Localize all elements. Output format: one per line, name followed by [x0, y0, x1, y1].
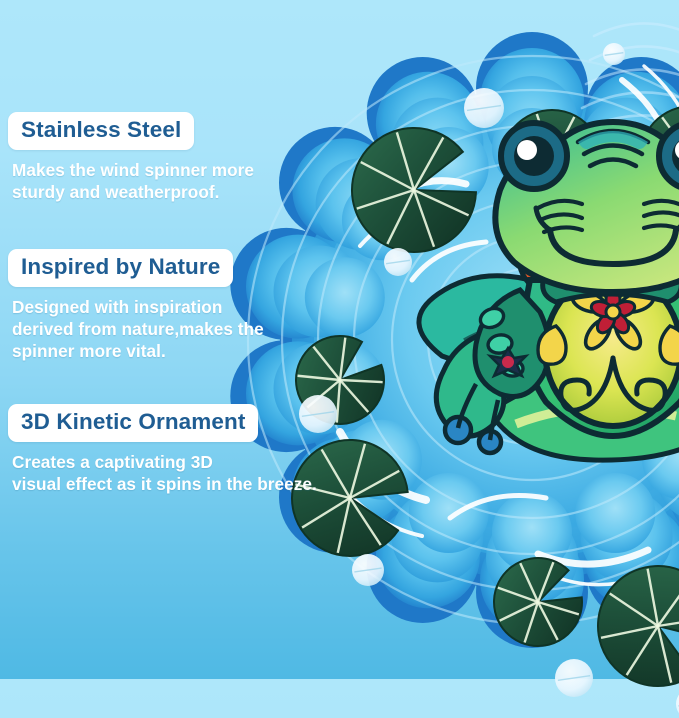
- feature-description-line: Makes the wind spinner more: [12, 159, 254, 181]
- lotus-bud: [517, 216, 562, 290]
- frog-frills: [475, 290, 679, 397]
- lily-pad: [479, 544, 594, 661]
- bubble: [464, 88, 504, 128]
- feature-description-line: visual effect as it spins in the breeze.: [12, 473, 317, 495]
- bubble: [555, 659, 593, 697]
- promo-image: Stainless Steel Makes the wind spinner m…: [0, 0, 679, 679]
- bubble: [603, 43, 625, 65]
- feature-title: Inspired by Nature: [21, 256, 220, 279]
- lily-pad: [633, 99, 679, 216]
- frog-eyes: [501, 123, 679, 189]
- bubble: [450, 418, 470, 438]
- lotus-stem: [532, 254, 537, 388]
- feature-list: Stainless Steel Makes the wind spinner m…: [0, 0, 380, 679]
- feature-title: Stainless Steel: [21, 119, 181, 142]
- feature-item-stainless-steel: Stainless Steel Makes the wind spinner m…: [8, 112, 254, 203]
- frog-figure: [419, 122, 679, 460]
- frog-collar: [543, 254, 679, 302]
- feature-description: Makes the wind spinner more sturdy and w…: [12, 159, 254, 204]
- feature-title-pill: Stainless Steel: [8, 112, 194, 150]
- bubble: [384, 248, 412, 276]
- frog-leaf-bottom: [490, 376, 679, 460]
- feature-item-inspired-by-nature: Inspired by Nature Designed with inspira…: [8, 249, 264, 363]
- frog-leaf-left: [419, 276, 560, 364]
- feature-description-line: spinner more vital.: [12, 340, 264, 362]
- lily-pad: [575, 543, 679, 708]
- feature-description-line: Designed with inspiration: [12, 296, 264, 318]
- frog-toes: [445, 417, 679, 453]
- feature-item-3d-kinetic-ornament: 3D Kinetic Ornament Creates a captivatin…: [8, 404, 317, 495]
- feature-description: Creates a captivating 3D visual effect a…: [12, 451, 317, 496]
- head-pad: [519, 163, 609, 214]
- feature-title: 3D Kinetic Ornament: [21, 411, 245, 434]
- feature-description: Designed with inspiration derived from n…: [12, 296, 264, 363]
- frog-head: [495, 122, 679, 292]
- feature-description-line: derived from nature,makes the: [12, 318, 264, 340]
- feature-description-line: Creates a captivating 3D: [12, 451, 317, 473]
- frog-belly: [545, 274, 679, 426]
- frog-mouth: [550, 230, 676, 264]
- frog-limbs: [436, 328, 679, 436]
- feature-description-line: sturdy and weatherproof.: [12, 181, 254, 203]
- lily-pad: [485, 93, 616, 225]
- feature-title-pill: 3D Kinetic Ornament: [8, 404, 258, 442]
- frill-flowers: [490, 348, 679, 376]
- chevron-ripples: [572, 23, 679, 182]
- frog-body: [525, 280, 679, 436]
- feature-title-pill: Inspired by Nature: [8, 249, 233, 287]
- frog-crown: [578, 131, 648, 166]
- belly-flower: [570, 269, 656, 353]
